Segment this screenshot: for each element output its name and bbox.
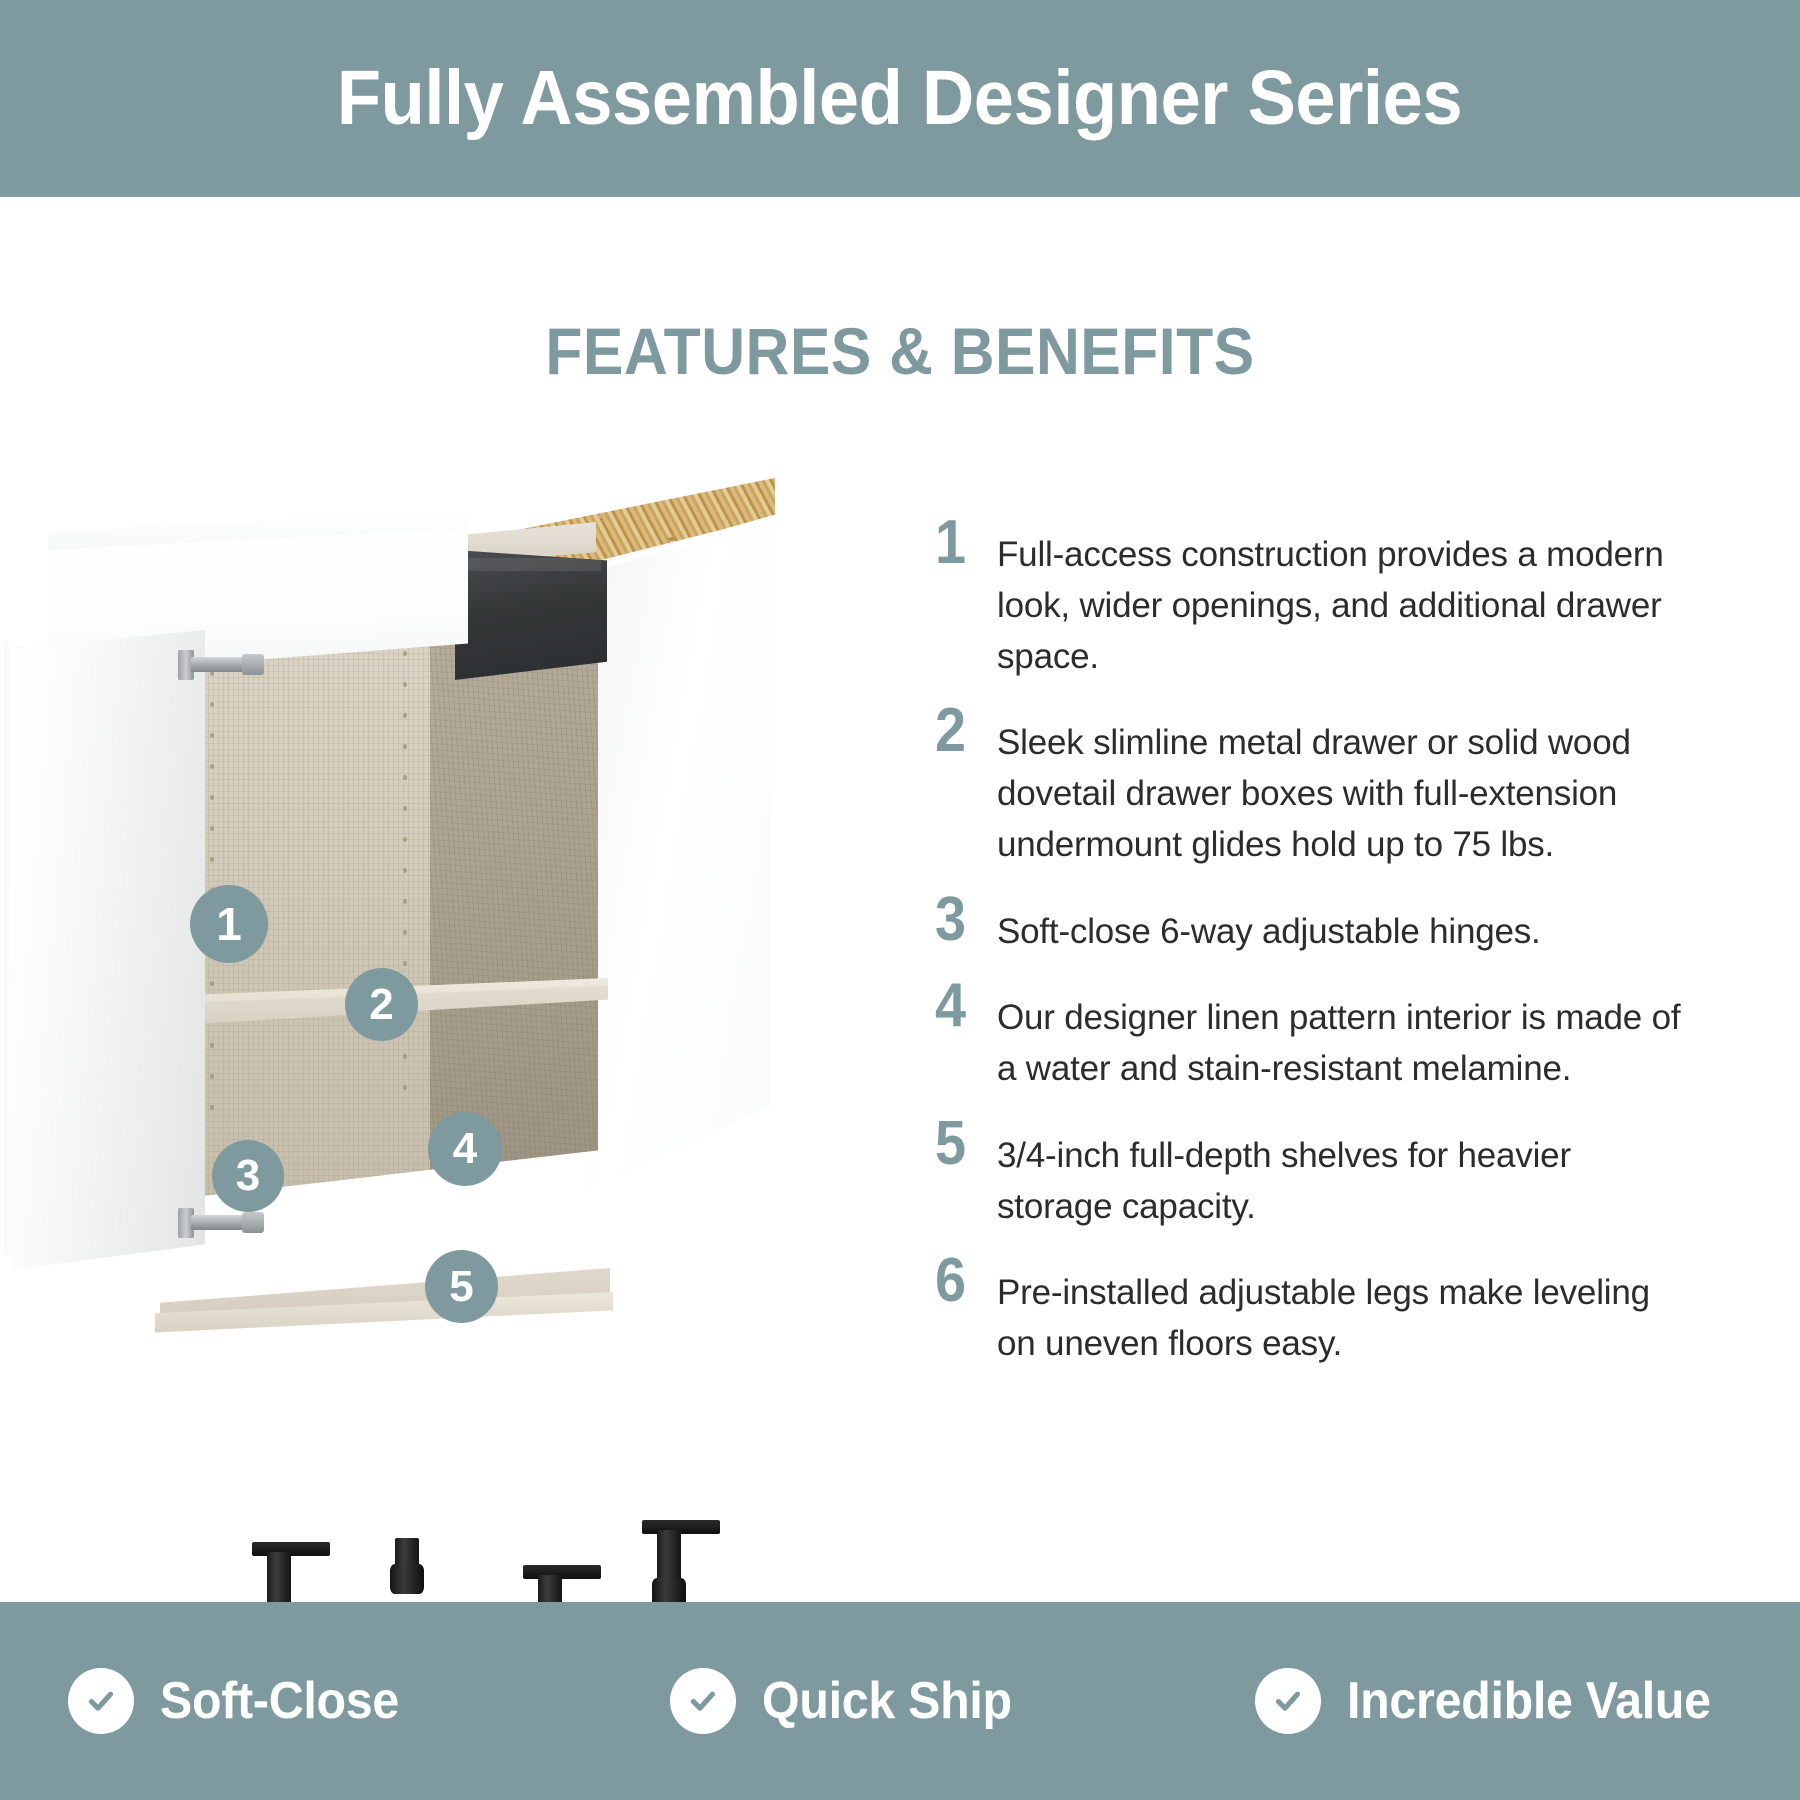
soft-close-hinge-icon <box>178 648 264 682</box>
leg-bracket <box>642 1520 720 1534</box>
feature-description: Sleek slimline metal drawer or solid woo… <box>997 708 1695 870</box>
hinge-arm <box>191 657 249 672</box>
feature-number: 6 <box>935 1252 991 1311</box>
callout-marker-4[interactable]: 4 <box>428 1112 502 1186</box>
leg-bracket <box>252 1542 330 1556</box>
hinge-arm <box>191 1215 249 1230</box>
shelf-pin-holes-left <box>210 640 214 1110</box>
feature-item: 6Pre-installed adjustable legs make leve… <box>935 1258 1695 1370</box>
feature-item: 3Soft-close 6-way adjustable hinges. <box>935 897 1695 958</box>
feature-number: 1 <box>935 514 991 573</box>
callout-marker-1[interactable]: 1 <box>190 885 268 963</box>
feature-number: 2 <box>935 702 991 761</box>
feature-description: Pre-installed adjustable legs make level… <box>997 1258 1695 1370</box>
cabinet-door-panel <box>10 630 205 1270</box>
feature-description: 3/4-inch full-depth shelves for heavier … <box>997 1121 1695 1233</box>
footer-badge-label: Quick Ship <box>762 1675 1012 1727</box>
callout-marker-5[interactable]: 5 <box>425 1250 498 1323</box>
features-list: 1Full-access construction provides a mod… <box>935 520 1695 1396</box>
hinge-cup <box>242 654 264 675</box>
feature-item: 1Full-access construction provides a mod… <box>935 520 1695 682</box>
feature-description: Soft-close 6-way adjustable hinges. <box>997 897 1695 958</box>
feature-number: 4 <box>935 977 991 1036</box>
feature-item: 4Our designer linen pattern interior is … <box>935 983 1695 1095</box>
footer-badge-label: Incredible Value <box>1347 1675 1711 1727</box>
leg-shaft <box>657 1530 681 1582</box>
callout-marker-2[interactable]: 2 <box>345 968 418 1041</box>
footer-bar: Soft-CloseQuick ShipIncredible Value <box>0 1602 1800 1800</box>
feature-number: 5 <box>935 1115 991 1174</box>
section-heading: FEATURES & BENEFITS <box>72 318 1728 384</box>
header-bar: Fully Assembled Designer Series <box>0 0 1800 197</box>
feature-item: 2Sleek slimline metal drawer or solid wo… <box>935 708 1695 870</box>
check-circle-icon <box>68 1668 134 1734</box>
footer-badge-item: Soft-Close <box>68 1668 417 1734</box>
product-illustration: 123456 <box>0 430 900 1560</box>
hinge-cup <box>242 1212 264 1233</box>
footer-badge-item: Incredible Value <box>1255 1668 1738 1734</box>
metal-drawer-box <box>455 550 607 680</box>
footer-badge-item: Quick Ship <box>670 1668 1031 1734</box>
feature-description: Full-access construction provides a mode… <box>997 520 1695 682</box>
feature-number: 3 <box>935 891 991 950</box>
callout-marker-3[interactable]: 3 <box>212 1140 284 1212</box>
leg-foot <box>390 1564 424 1594</box>
cabinet-side-panel <box>585 490 770 1190</box>
footer-badge-label: Soft-Close <box>160 1675 399 1727</box>
leg-bracket <box>523 1565 601 1579</box>
page-title: Fully Assembled Designer Series <box>337 60 1462 137</box>
feature-description: Our designer linen pattern interior is m… <box>997 983 1695 1095</box>
feature-item: 53/4-inch full-depth shelves for heavier… <box>935 1121 1695 1233</box>
check-circle-icon <box>1255 1668 1321 1734</box>
infographic-page: Fully Assembled Designer Series FEATURES… <box>0 0 1800 1800</box>
check-circle-icon <box>670 1668 736 1734</box>
